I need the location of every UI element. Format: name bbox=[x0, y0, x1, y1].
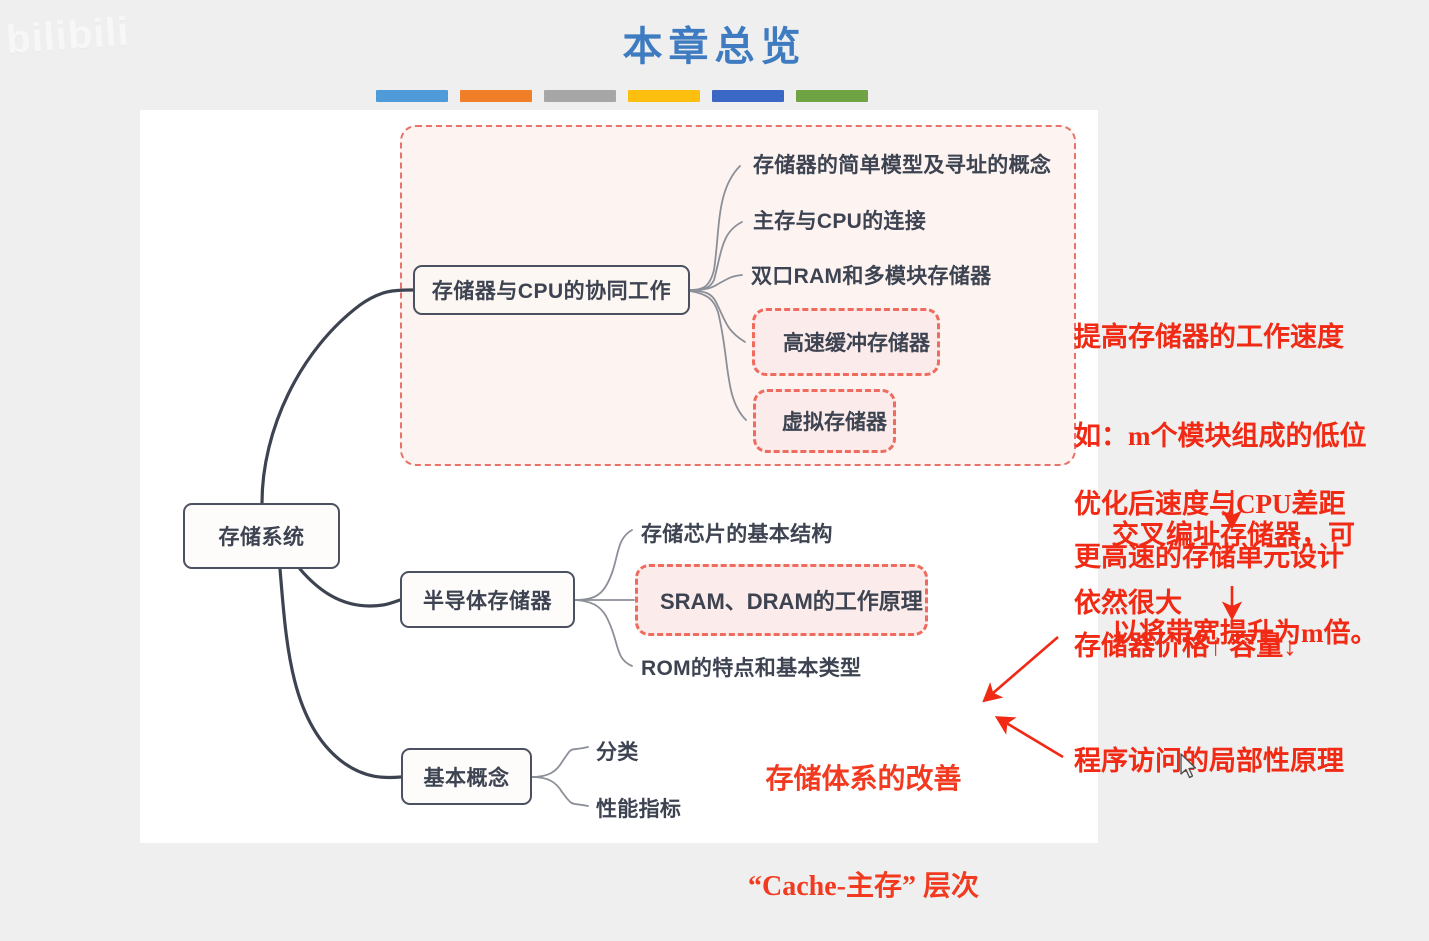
leaf-performance-metrics[interactable]: 性能指标 bbox=[596, 793, 681, 823]
leaf-classification[interactable]: 分类 bbox=[596, 736, 639, 766]
leaf-virtual-memory-highlight[interactable]: 虚拟存储器 bbox=[753, 389, 896, 453]
color-bar-blue bbox=[376, 90, 448, 102]
annotation-line-1: 提高存储器的工作速度 bbox=[1074, 321, 1378, 354]
annotation-center-line-2: “Cache-主存” 层次 bbox=[748, 869, 979, 905]
color-bar-strip bbox=[376, 90, 868, 102]
leaf-memory-chip-structure[interactable]: 存储芯片的基本结构 bbox=[641, 518, 833, 548]
node-memory-cpu-cowork[interactable]: 存储器与CPU的协同工作 bbox=[413, 265, 690, 315]
color-bar-orange bbox=[460, 90, 532, 102]
color-bar-yellow bbox=[628, 90, 700, 102]
annotation-center-line-1: 存储体系的改善 bbox=[748, 762, 979, 798]
color-bar-indigo bbox=[712, 90, 784, 102]
annotation-cache-main-memory-hierarchy: 存储体系的改善 “Cache-主存” 层次 bbox=[748, 690, 979, 941]
color-bar-green bbox=[796, 90, 868, 102]
annotation-locality-principle: 程序访问的局部性原理 bbox=[1074, 745, 1344, 778]
leaf-main-memory-cpu-connection[interactable]: 主存与CPU的连接 bbox=[753, 205, 926, 235]
node-storage-system[interactable]: 存储系统 bbox=[183, 503, 340, 569]
leaf-simple-model-addressing[interactable]: 存储器的简单模型及寻址的概念 bbox=[753, 149, 1051, 179]
color-bar-gray bbox=[544, 90, 616, 102]
page-title: 本章总览 bbox=[0, 14, 1429, 72]
leaf-rom-features-types[interactable]: ROM的特点和基本类型 bbox=[641, 652, 861, 682]
node-semiconductor-memory[interactable]: 半导体存储器 bbox=[400, 571, 575, 628]
node-basic-concept[interactable]: 基本概念 bbox=[401, 748, 532, 805]
leaf-dualport-ram-multimodule[interactable]: 双口RAM和多模块存储器 bbox=[751, 260, 991, 290]
annotation-price-up-capacity-down: 存储器价格↑ 容量↓ bbox=[1074, 630, 1297, 663]
annotation-gap-line-2: 依然很大 bbox=[1074, 587, 1346, 620]
mouse-pointer-icon bbox=[1179, 753, 1199, 781]
annotation-gap-line-1: 优化后速度与CPU差距 bbox=[1074, 488, 1346, 521]
leaf-cache-memory-highlight[interactable]: 高速缓冲存储器 bbox=[752, 308, 940, 376]
annotation-faster-cell-design: 更高速的存储单元设计 bbox=[1074, 541, 1344, 574]
annotation-gap-with-cpu: 优化后速度与CPU差距 依然很大 bbox=[1074, 422, 1346, 653]
leaf-sram-dram-principle-highlight[interactable]: SRAM、DRAM的工作原理 bbox=[635, 564, 928, 636]
